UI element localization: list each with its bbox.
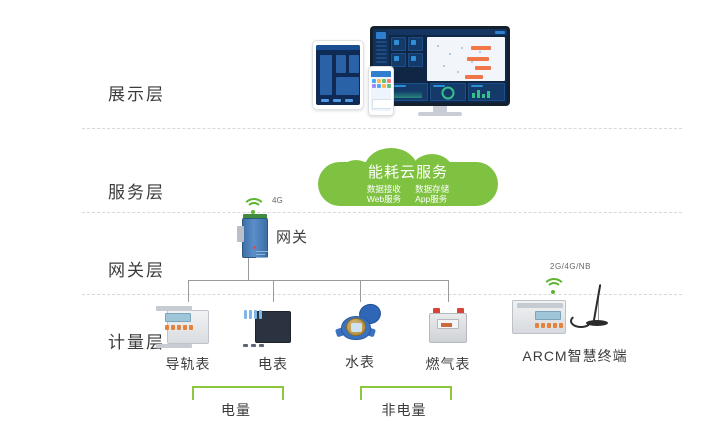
electric-meter-icon — [238, 304, 308, 350]
monitor-content — [389, 29, 507, 103]
meter-label: 燃气表 — [413, 354, 483, 374]
arcm-device-body — [512, 300, 566, 334]
meter-gas: 燃气表 — [413, 304, 483, 374]
layer-title-service: 服务层 — [108, 178, 198, 203]
meter-din-rail: 导轨表 — [153, 304, 223, 374]
cloud-subtitles: 数据接收 Web服务 数据存储 App服务 — [318, 184, 498, 204]
wifi-signal-icon — [242, 198, 264, 214]
monitor-nav-item — [376, 45, 387, 47]
gateway-network-tag: 4G — [272, 196, 283, 205]
gateway-label: 网关 — [276, 226, 308, 247]
connector-drop-gas — [448, 280, 449, 302]
cloud-feature-label: 数据接收 — [367, 184, 401, 194]
cloud-title: 能耗云服务 — [318, 164, 498, 182]
cloud-text-block: 能耗云服务 数据接收 Web服务 数据存储 App服务 — [318, 164, 498, 204]
cloud-feature-label: App服务 — [415, 194, 449, 204]
monitor-map-panel — [427, 37, 505, 81]
monitor-main-area — [389, 35, 507, 83]
cloud-column-receive: 数据接收 Web服务 — [367, 184, 401, 204]
meter-water: 水表 — [325, 302, 395, 372]
tablet-device — [312, 40, 364, 110]
layer-title-display: 展示层 — [108, 80, 198, 105]
meter-label: 电表 — [238, 354, 308, 374]
gas-meter-icon — [413, 304, 483, 350]
connector-drop-electric — [273, 280, 274, 302]
phone-device — [368, 66, 394, 116]
cloud-feature-label: Web服务 — [367, 194, 401, 204]
monitor-nav-item — [376, 41, 387, 43]
layer-divider-service-gateway — [82, 212, 682, 213]
layer-title-gateway: 网关层 — [108, 256, 198, 281]
connector-bus — [188, 280, 448, 281]
display-layer-devices — [300, 8, 540, 123]
meter-label: 水表 — [325, 352, 395, 372]
cloud-column-storage: 数据存储 App服务 — [415, 184, 449, 204]
arcm-network-tag: 2G/4G/NB — [550, 262, 591, 271]
connector-gateway-stem — [248, 258, 249, 280]
monitor-trend-widget — [391, 83, 428, 101]
monitor-stat-card — [391, 53, 406, 67]
antenna-icon — [593, 284, 602, 322]
monitor-stat-cards — [391, 37, 425, 81]
din-rail-meter-icon — [153, 304, 223, 350]
monitor-nav-item — [376, 49, 387, 51]
monitor-stat-card — [408, 37, 423, 51]
monitor-stand-base — [418, 112, 462, 116]
wifi-signal-icon — [542, 278, 564, 294]
tablet-screen — [316, 45, 360, 105]
connector-drop-water — [360, 280, 361, 302]
antenna-cable — [570, 314, 592, 328]
layer-divider-display-service — [82, 128, 682, 129]
bracket-non-electric-group — [360, 386, 452, 400]
monitor-bar-widget — [468, 83, 505, 101]
monitor-stat-card — [391, 37, 406, 51]
monitor-widget-row — [389, 83, 507, 103]
phone-screen — [371, 71, 391, 111]
energy-cloud-service: 能耗云服务 数据接收 Web服务 数据存储 App服务 — [318, 148, 498, 210]
bracket-electric-group — [192, 386, 284, 400]
gateway-box — [242, 218, 268, 258]
meter-electric: 电表 — [238, 304, 308, 374]
arcm-terminal-label: ARCM智慧终端 — [490, 346, 660, 366]
connector-drop-din — [188, 280, 189, 302]
arcm-terminal-group: 2G/4G/NB ARCM智慧终端 — [500, 262, 650, 372]
monitor-gauge-widget — [430, 83, 467, 101]
architecture-diagram: 展示层 服务层 网关层 计量层 — [0, 0, 715, 443]
monitor-nav-item — [376, 57, 387, 59]
monitor-stat-card — [408, 53, 423, 67]
monitor-logo — [376, 32, 386, 39]
meter-label: 导轨表 — [153, 354, 223, 374]
water-meter-icon — [325, 302, 395, 348]
monitor-nav-item — [376, 53, 387, 55]
cloud-feature-label: 数据存储 — [415, 184, 449, 194]
group-label-electric: 电量 — [192, 400, 280, 420]
group-label-non-electric: 非电量 — [360, 400, 448, 420]
gateway-port — [237, 226, 244, 242]
gateway-device-group: 4G 网关 — [236, 196, 356, 260]
monitor-nav-item — [376, 61, 387, 63]
